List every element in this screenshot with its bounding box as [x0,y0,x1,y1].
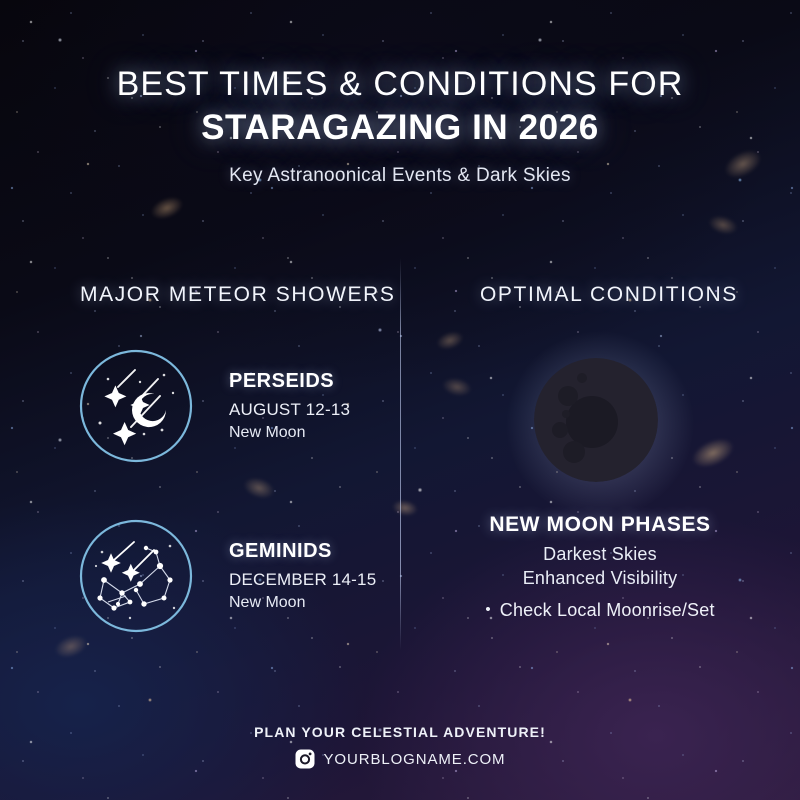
galaxy-smudge [391,498,419,518]
shooting-stars-crescent-icon [78,348,194,464]
galaxy-smudge [440,375,473,399]
event-name: PERSEIDS [229,370,350,393]
page-subtitle: Key Astranoonical Events & Dark Skies [0,165,800,187]
galaxy-smudge [51,631,90,662]
page-title-line2: STARAGAZING IN 2026 [0,108,800,148]
galaxy-smudge [434,328,466,353]
footer-handle-row[interactable]: YOURBLOGNAME.COM [0,749,800,769]
conditions-title: NEW MOON PHASES [430,513,770,537]
footer-cta: PLAN YOUR CELESTIAL ADVENTURE! [0,724,800,740]
event-date: DECEMBER 14-15 [229,570,376,590]
meteor-shower-item-perseids: PERSEIDS AUGUST 12-13 New Moon [78,348,350,464]
meteor-shower-item-geminids: GEMINIDS DECEMBER 14-15 New Moon [78,518,376,634]
crescent-moon-icon [530,344,670,496]
footer-url[interactable]: YOURBLOGNAME.COM [324,751,506,768]
column-divider [400,258,401,650]
event-text-block: PERSEIDS AUGUST 12-13 New Moon [229,370,350,442]
event-moon-phase: New Moon [229,594,376,612]
footer: PLAN YOUR CELESTIAL ADVENTURE! YOURBLOGN… [0,724,800,769]
galaxy-smudge [147,192,186,223]
instagram-icon[interactable] [295,749,315,769]
left-column-heading: MAJOR METEOR SHOWERS [80,283,396,307]
bullet-marker: • [485,601,490,618]
right-column-heading: OPTIMAL CONDITIONS [480,283,738,307]
conditions-bullet-item: •Check Local Moonrise/Set [430,600,770,621]
galaxy-smudge [706,212,740,238]
moon-illustration [470,330,730,492]
stargazing-infographic: BEST TIMES & CONDITIONS FOR STARAGAZING … [0,0,800,800]
constellation-shooting-stars-icon [78,518,194,634]
conditions-line: Darkest Skies [430,544,770,565]
conditions-line: Enhanced Visibility [430,568,770,589]
event-moon-phase: New Moon [229,424,350,442]
event-text-block: GEMINIDS DECEMBER 14-15 New Moon [229,540,376,612]
galaxy-smudge [241,474,278,503]
page-title-line1: BEST TIMES & CONDITIONS FOR [0,64,800,104]
bullet-text: Check Local Moonrise/Set [500,600,715,620]
event-name: GEMINIDS [229,540,376,563]
event-date: AUGUST 12-13 [229,400,350,420]
header: BEST TIMES & CONDITIONS FOR STARAGAZING … [0,64,800,187]
